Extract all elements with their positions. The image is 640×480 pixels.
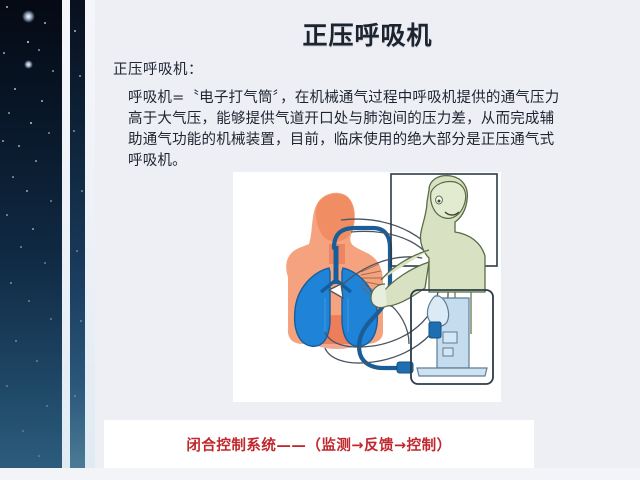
ventilator-diagram-panel [233, 172, 501, 402]
caption-text: 闭合控制系统——（监测→反馈→控制） [186, 434, 451, 455]
section-label: 正压呼吸机： [113, 58, 203, 79]
slide-root: 正压呼吸机 正压呼吸机： 呼吸机=〝电子打气筒〞，在机械通气过程中呼吸机提供的通… [0, 0, 640, 480]
caption-bar: 闭合控制系统——（监测→反馈→控制） [104, 420, 534, 468]
starfield-band-left [0, 0, 62, 480]
starfield-band-right [70, 0, 85, 480]
page-title: 正压呼吸机 [95, 16, 640, 52]
decor-stripe-inner [62, 0, 70, 480]
ventilator-illustration-icon [233, 172, 501, 402]
bottom-strip [0, 468, 640, 480]
paragraph-line: 高于大气压，能够提供气道开口处与肺泡间的压力差，从而完成辅 [128, 109, 548, 130]
paragraph-line: 呼吸机。 [128, 151, 548, 172]
body-paragraph: 呼吸机=〝电子打气筒〞，在机械通气过程中呼吸机提供的通气压力 高于大气压，能够提… [128, 88, 548, 172]
decor-stripe-outer [85, 0, 95, 480]
paragraph-line: 助通气功能的机械装置，目前，临床使用的绝大部分是正压通气式 [128, 130, 548, 151]
paragraph-line: 呼吸机=〝电子打气筒〞，在机械通气过程中呼吸机提供的通气压力 [128, 88, 548, 109]
